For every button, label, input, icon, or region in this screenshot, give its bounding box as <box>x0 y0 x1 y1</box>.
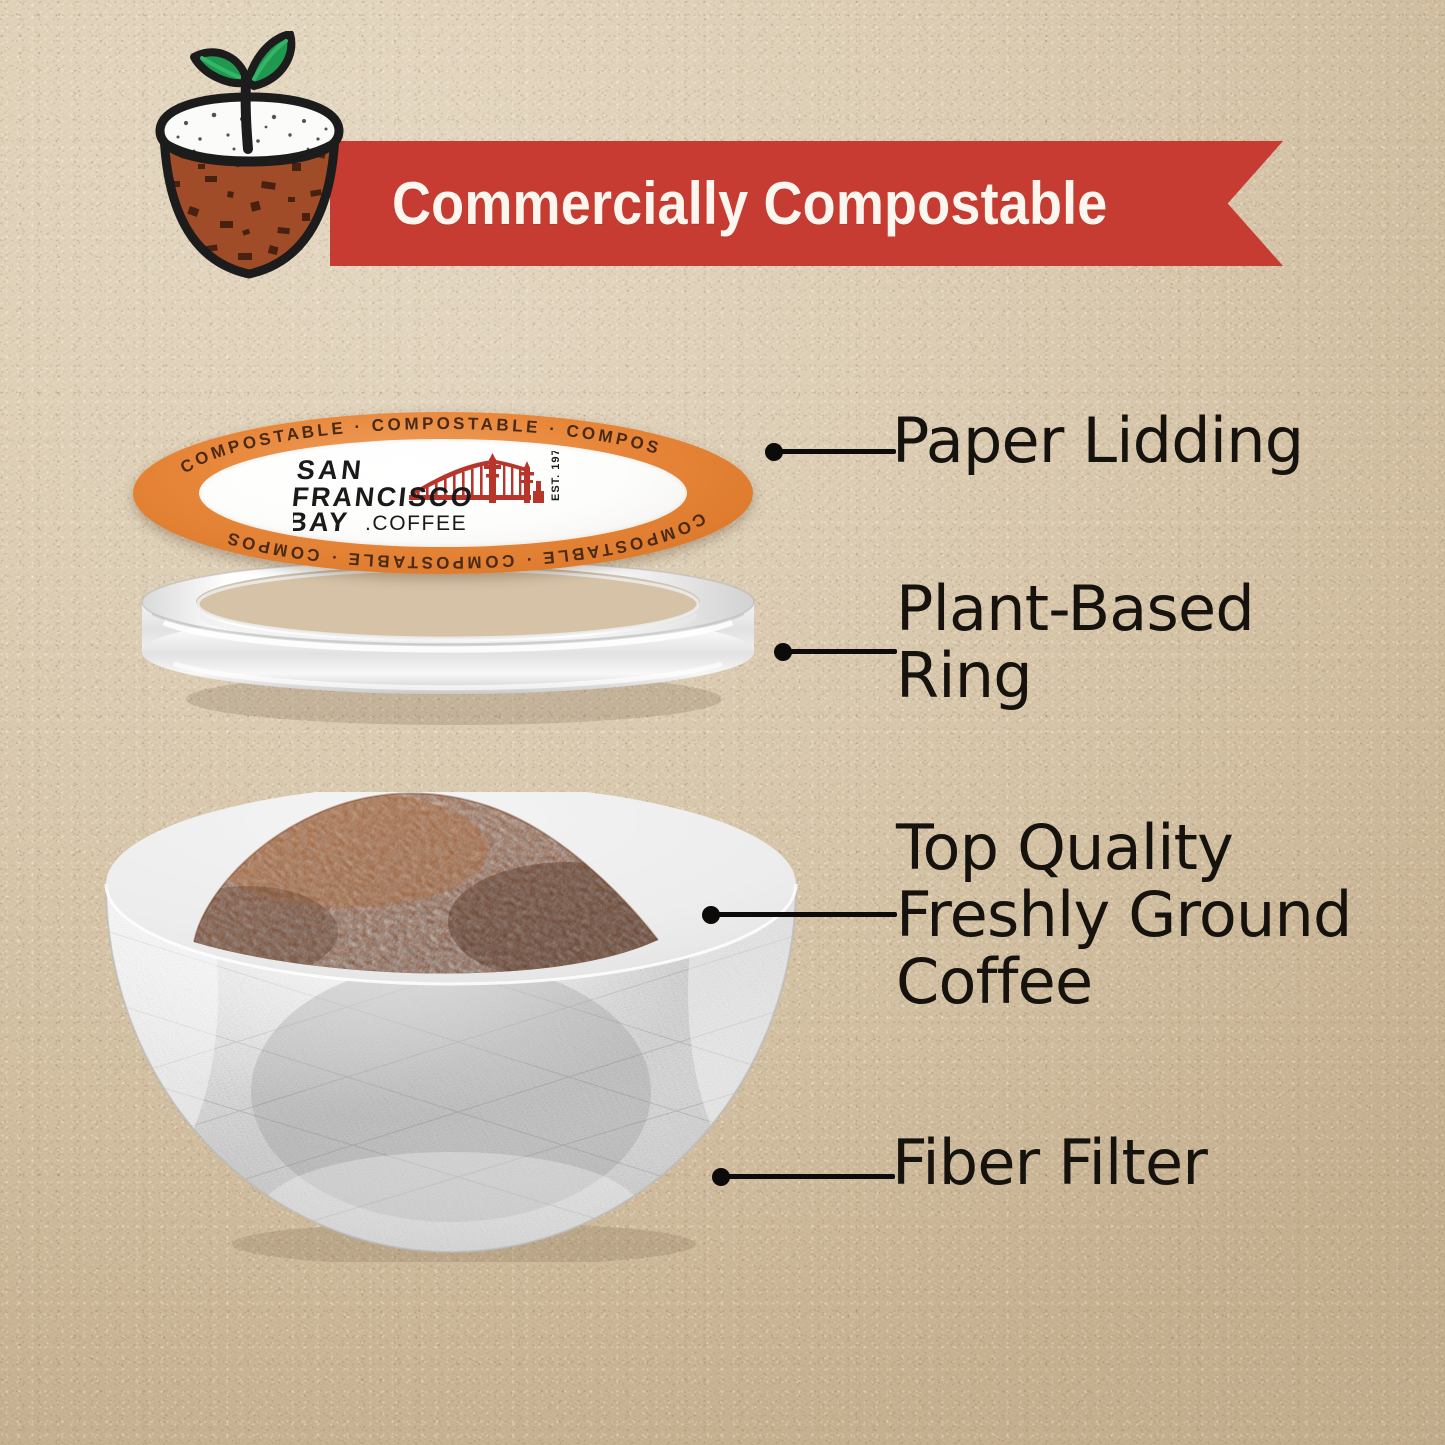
callout-ground-coffee-line2: Freshly Ground <box>896 882 1352 949</box>
lid-compostable-ring: COMPOSTABLE · COMPOSTABLE · COMPOS COMPO… <box>133 412 753 574</box>
compostable-banner: Commercially Compostable <box>330 141 1283 266</box>
leader-bar <box>778 449 896 454</box>
plant-based-ring <box>124 556 772 728</box>
callout-ground-coffee-line3: Coffee <box>896 949 1352 1016</box>
callout-paper-lidding: Paper Lidding <box>892 408 1303 475</box>
svg-text:BAY: BAY <box>293 506 351 535</box>
seedling-in-pot-icon <box>142 31 357 283</box>
leader-bar <box>787 649 897 654</box>
lid-label-face: EST. 1973 SAN FRANCISCO BAY .COFFEE <box>199 439 688 548</box>
leader-bar <box>725 1174 895 1179</box>
paper-lidding-disc: COMPOSTABLE · COMPOSTABLE · COMPOS COMPO… <box>133 412 753 574</box>
product-infographic: Commercially Compostable <box>0 0 1445 1445</box>
callout-ground-coffee-line1: Top Quality <box>896 815 1352 882</box>
callout-plant-based-ring-line1: Plant-Based <box>896 576 1254 643</box>
banner-title: Commercially Compostable <box>392 169 1108 238</box>
svg-text:.COFFEE: .COFFEE <box>365 512 467 535</box>
leader-bar <box>715 912 897 917</box>
fiber-filter-and-grounds <box>98 792 804 1262</box>
callout-paper-lidding-text: Paper Lidding <box>892 408 1303 475</box>
callout-ground-coffee: Top Quality Freshly Ground Coffee <box>896 815 1352 1016</box>
callout-plant-based-ring: Plant-Based Ring <box>896 576 1254 710</box>
svg-text:EST. 1973: EST. 1973 <box>550 451 562 501</box>
callout-plant-based-ring-line2: Ring <box>896 643 1254 710</box>
callout-fiber-filter-text: Fiber Filter <box>892 1130 1207 1197</box>
callout-fiber-filter: Fiber Filter <box>892 1130 1207 1197</box>
